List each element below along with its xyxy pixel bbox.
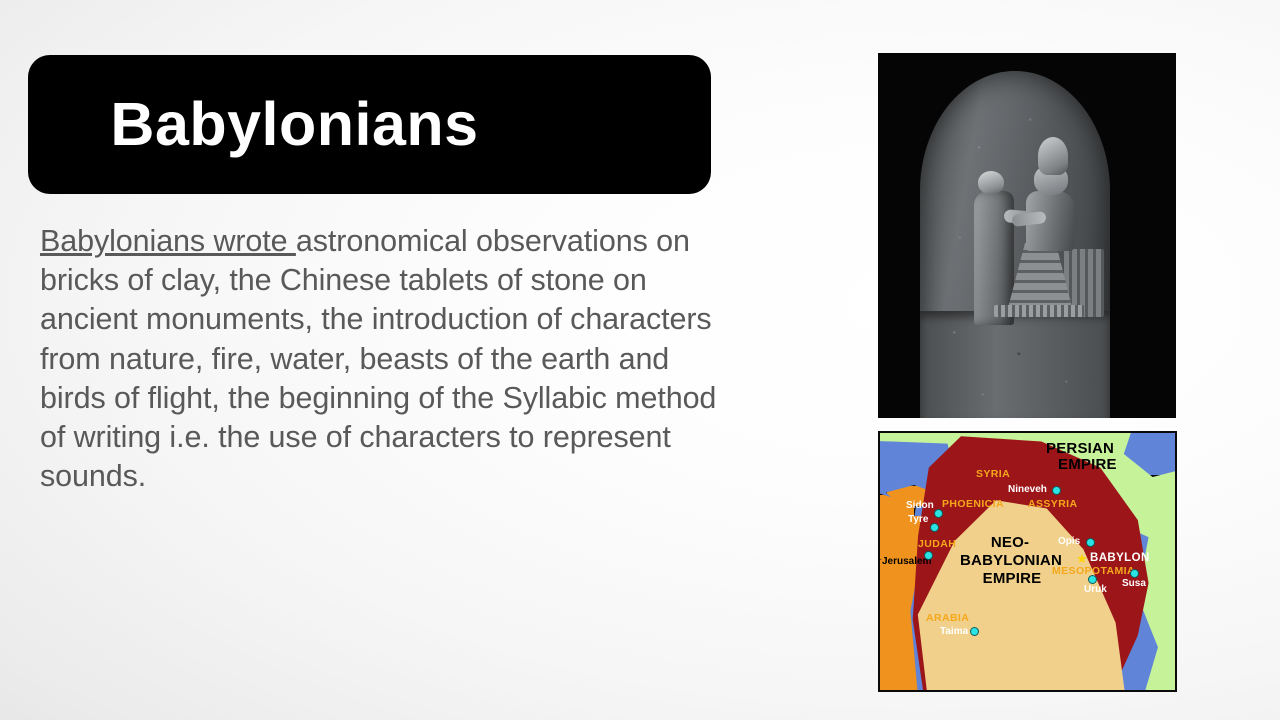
map-city-dot-susa [1130, 569, 1139, 578]
code-of-hammurabi-stele-image [878, 53, 1176, 418]
map-city-label-opis: Opis [1058, 537, 1080, 548]
map-city-dot-sidon [934, 509, 943, 518]
slide-canvas: Babylonians Babylonians wrote astronomic… [0, 0, 1280, 720]
slide-body-text: Babylonians wrote astronomical observati… [40, 222, 740, 496]
map-city-dot-tyre [930, 523, 939, 532]
map-capital-star-icon: ★ [1076, 552, 1088, 565]
map-city-dot-nineveh [1052, 486, 1061, 495]
map-city-label-taima: Taima [940, 627, 968, 638]
relief-standing-figure-head [978, 171, 1004, 194]
map-label-babylonian: BABYLONIAN [956, 553, 1066, 569]
map-label-syria: SYRIA [976, 469, 1010, 480]
map-city-dot-taima [970, 627, 979, 636]
stele-base-shape [920, 311, 1110, 418]
map-label-assyria: ASSYRIA [1028, 499, 1077, 510]
map-city-label-babylon: BABYLON [1090, 552, 1150, 564]
relief-platform [994, 305, 1084, 317]
map-label-phoenicia: PHOENICIA [942, 499, 1004, 510]
map-label-arabia: ARABIA [926, 613, 969, 624]
map-label-egypt: EGYPT [878, 623, 882, 682]
map-city-label-nineveh: Nineveh [1008, 485, 1047, 496]
page-title: Babylonians [110, 94, 628, 155]
body-text-underlined-lead: Babylonians wrote [40, 224, 296, 258]
map-label-persian: PERSIAN [1046, 441, 1114, 457]
relief-seated-figure-crown [1038, 137, 1068, 175]
map-label-judah: JUDAH [918, 539, 956, 550]
map-label-neo: NEO- [968, 535, 1052, 551]
map-city-label-tyre: Tyre [908, 515, 928, 526]
map-label-empire-persian: EMPIRE [1058, 457, 1117, 473]
map-city-dot-jerusalem [924, 551, 933, 560]
map-label-empire-babylonian: EMPIRE [976, 571, 1048, 587]
map-city-dot-uruk [1088, 575, 1097, 584]
body-text-remainder: astronomical observations on bricks of c… [40, 224, 716, 493]
map-city-label-susa: Susa [1122, 579, 1146, 590]
slide-title-box: Babylonians [28, 55, 711, 194]
map-city-dot-opis [1086, 538, 1095, 547]
map-city-label-jerusalem: Jerusalem [882, 557, 931, 568]
map-city-label-sidon: Sidon [906, 501, 934, 512]
neo-babylonian-empire-map-image: PERSIAN EMPIRE SYRIA PHOENICIA ASSYRIA J… [878, 431, 1177, 692]
map-water-black-sea [1119, 431, 1177, 477]
map-city-label-uruk: Uruk [1084, 585, 1107, 596]
